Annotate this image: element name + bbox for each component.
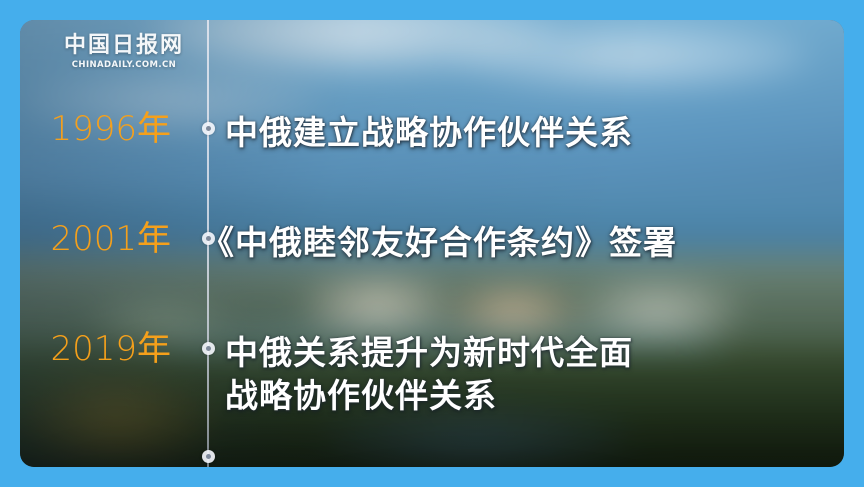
timeline-row: 1996年 中俄建立战略协作伙伴关系 bbox=[20, 112, 844, 155]
outer-frame: 中国日报网 CHINADAILY.COM.CN 1996年 中俄建立战略协作伙伴… bbox=[0, 0, 864, 487]
timeline-row: 2019年 中俄关系提升为新时代全面 战略协作伙伴关系 bbox=[20, 332, 844, 418]
timeline-event-text: 中俄建立战略协作伙伴关系 bbox=[225, 112, 633, 155]
logo: 中国日报网 CHINADAILY.COM.CN bbox=[58, 34, 190, 70]
logo-english-text: CHINADAILY.COM.CN bbox=[58, 60, 190, 70]
timeline-year-label: 2001年 bbox=[20, 222, 185, 256]
content-card: 中国日报网 CHINADAILY.COM.CN 1996年 中俄建立战略协作伙伴… bbox=[20, 20, 844, 467]
timeline-year-label: 1996年 bbox=[20, 112, 185, 146]
logo-chinese-text: 中国日报网 bbox=[58, 34, 190, 57]
timeline-year-label: 2019年 bbox=[20, 332, 185, 366]
timeline-event-text: 《中俄睦邻友好合作条约》签署 bbox=[201, 222, 677, 265]
timeline-node-end[interactable] bbox=[202, 450, 215, 463]
timeline-event-text: 中俄关系提升为新时代全面 战略协作伙伴关系 bbox=[225, 332, 633, 418]
timeline-row: 2001年 《中俄睦邻友好合作条约》签署 bbox=[20, 222, 844, 265]
